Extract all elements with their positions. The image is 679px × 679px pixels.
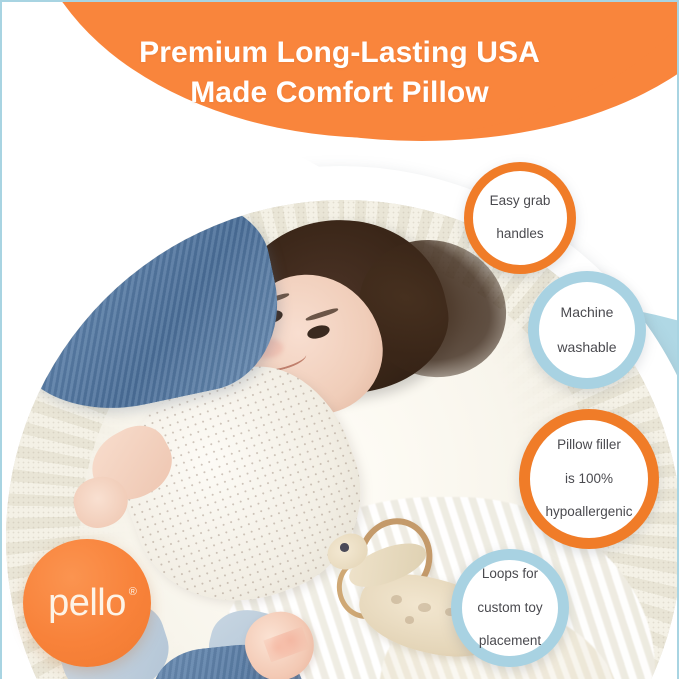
badge-line-1: Loops for	[471, 566, 548, 583]
badge-line-2: washable	[551, 339, 622, 356]
badge-line-2: custom toy	[471, 600, 548, 617]
badge-custom-toy-loops-label: Loops for custom toy placement	[465, 566, 554, 650]
page-title: Premium Long-Lasting USA Made Comfort Pi…	[0, 33, 679, 113]
badge-hypoallergenic-filler: Pillow filler is 100% hypoallergenic	[519, 409, 659, 549]
badge-easy-grab-handles-label: Easy grab handles	[478, 193, 563, 243]
badge-line-1: Pillow filler	[539, 437, 638, 454]
badge-machine-washable: Machine washable	[528, 271, 646, 389]
brand-logo: pello ®	[23, 539, 151, 667]
product-marketing-image: Premium Long-Lasting USA Made Comfort Pi…	[0, 0, 679, 679]
badge-machine-washable-label: Machine washable	[545, 304, 628, 356]
badge-line-2: handles	[484, 226, 557, 243]
giraffe-spot	[405, 616, 414, 623]
badge-custom-toy-loops: Loops for custom toy placement	[451, 549, 569, 667]
giraffe-spot	[418, 603, 430, 612]
badge-line-1: Machine	[551, 304, 622, 321]
giraffe-toy-eye	[340, 543, 349, 551]
frame-border-left	[0, 0, 2, 679]
badge-easy-grab-handles: Easy grab handles	[464, 162, 576, 274]
badge-line-3: hypoallergenic	[539, 504, 638, 521]
page-title-line-2: Made Comfort Pillow	[0, 73, 679, 113]
badge-hypoallergenic-filler-label: Pillow filler is 100% hypoallergenic	[533, 437, 644, 521]
giraffe-spot	[391, 595, 402, 604]
page-title-line-1: Premium Long-Lasting USA	[139, 36, 540, 69]
brand-logo-text: pello	[48, 582, 126, 624]
badge-line-2: is 100%	[539, 471, 638, 488]
badge-line-3: placement	[471, 633, 548, 650]
registered-trademark-icon: ®	[129, 586, 137, 598]
brand-logo-wrap: pello ®	[48, 584, 126, 622]
badge-line-1: Easy grab	[484, 193, 557, 210]
frame-border-top	[0, 0, 679, 2]
